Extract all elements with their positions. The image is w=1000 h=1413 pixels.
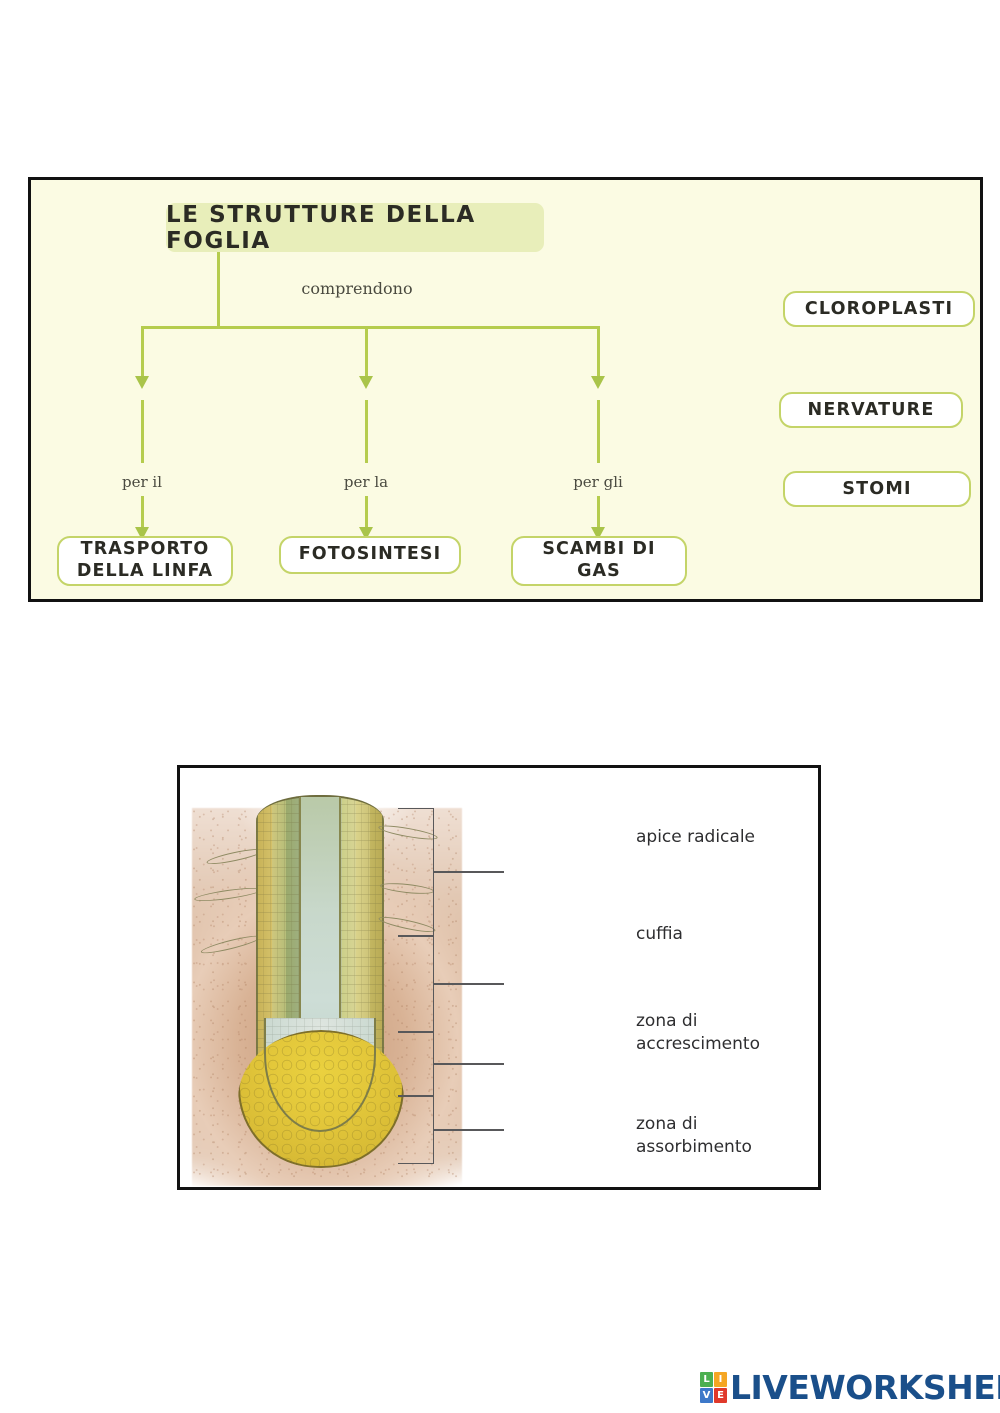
result-label-line2: DELLA LINFA [77, 561, 213, 581]
arrowhead-icon-2 [591, 376, 605, 389]
liveworksheets-logo: L I V E LIVEWORKSHEETS [700, 1368, 1000, 1407]
root-label-zona-accrescimento: zona di accrescimento [636, 1010, 760, 1056]
branch-line-lower-0b [141, 496, 144, 530]
root-label-text-2b: accrescimento [636, 1034, 760, 1054]
branch-line-lower-1a [365, 400, 368, 463]
bracket-cuffia [398, 936, 434, 1032]
result-box-scambi-di-gas: SCAMBI DIGAS [511, 536, 687, 586]
answer-option-label-1: NERVATURE [808, 400, 935, 420]
logo-tiles: L I V E [700, 1372, 727, 1403]
connector-stem-vertical [217, 252, 220, 329]
result-label-scambi-line2: GAS [577, 561, 621, 581]
result-label-line1: TRASPORTO [81, 539, 210, 559]
branch-line-0 [141, 326, 144, 379]
root-label-text-0: apice radicale [636, 827, 755, 847]
root-label-text-3b: assorbimento [636, 1137, 752, 1157]
root-label-text-3a: zona di [636, 1114, 697, 1134]
bracket-tick-zona-accrescimento [434, 1063, 504, 1065]
arrowhead-icon-0 [135, 376, 149, 389]
bracket-zona-assorbimento [398, 1096, 434, 1164]
logo-tile-l: L [700, 1372, 713, 1387]
result-label-fotosintesi: FOTOSINTESI [299, 544, 442, 566]
connector-bus-horizontal [141, 326, 600, 329]
root-anatomy-panel: apice radicale cuffia zona di accrescime… [177, 765, 821, 1190]
logo-tile-i: I [714, 1372, 727, 1387]
root-label-cuffia: cuffia [636, 923, 683, 946]
branch-line-lower-2a [597, 400, 600, 463]
logo-tile-e: E [714, 1388, 727, 1403]
logo-tile-v: V [700, 1388, 713, 1403]
connector-label-comprendono: comprendono [277, 279, 437, 298]
result-box-fotosintesi: FOTOSINTESI [279, 536, 461, 574]
result-box-trasporto-della-linfa: TRASPORTODELLA LINFA [57, 536, 233, 586]
leaf-structures-flowchart-panel: LE STRUTTURE DELLA FOGLIA comprendono pe… [28, 177, 983, 602]
arrowhead-icon-1 [359, 376, 373, 389]
branch-preposition-2: per gli [543, 473, 653, 491]
branch-line-lower-1b [365, 496, 368, 530]
bracket-tick-apice-radicale [434, 871, 504, 873]
bracket-zona-accrescimento [398, 1032, 434, 1096]
branch-preposition-1: per la [311, 473, 421, 491]
bracket-apice-radicale [398, 808, 434, 936]
answer-option-label-2: STOMI [842, 479, 911, 499]
bracket-tick-cuffia [434, 983, 504, 985]
root-label-text-2a: zona di [636, 1011, 697, 1031]
root-label-apice-radicale: apice radicale [636, 826, 755, 849]
flowchart-title-box: LE STRUTTURE DELLA FOGLIA [166, 203, 544, 252]
branch-line-1 [365, 326, 368, 379]
answer-option-stomi[interactable]: STOMI [783, 471, 971, 507]
root-label-zona-assorbimento: zona di assorbimento [636, 1113, 752, 1159]
bracket-tick-zona-assorbimento [434, 1129, 504, 1131]
branch-line-lower-0a [141, 400, 144, 463]
result-label-scambi-line1: SCAMBI DI [542, 539, 655, 559]
answer-option-nervature[interactable]: NERVATURE [779, 392, 963, 428]
answer-option-label-0: CLOROPLASTI [805, 299, 953, 319]
branch-line-2 [597, 326, 600, 379]
page-title: LE STRUTTURE DELLA FOGLIA [166, 202, 544, 254]
logo-wordmark: LIVEWORKSHEETS [730, 1368, 1000, 1407]
answer-option-cloroplasti[interactable]: CLOROPLASTI [783, 291, 975, 327]
branch-preposition-0: per il [87, 473, 197, 491]
branch-line-lower-2b [597, 496, 600, 530]
root-label-text-1: cuffia [636, 924, 683, 944]
